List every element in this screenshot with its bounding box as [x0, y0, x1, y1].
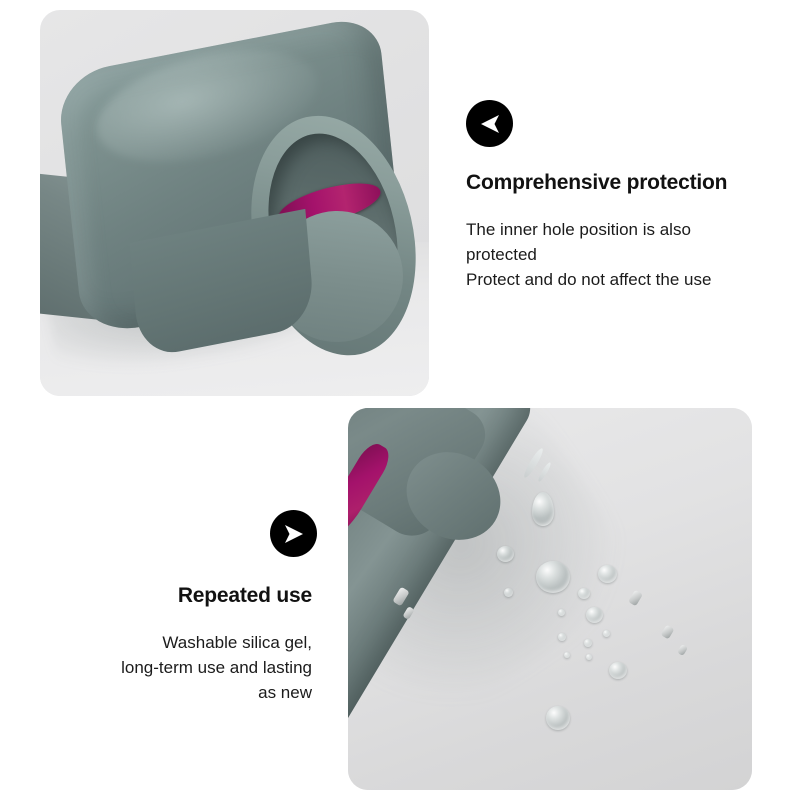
- nozzle-cover-photo: [40, 10, 429, 396]
- water-droplet: [504, 588, 513, 597]
- arrow-left-icon: [466, 100, 513, 147]
- feature-description-line: protected: [466, 242, 786, 267]
- wet-handle-photo: [348, 408, 752, 790]
- arrow-right-icon: [270, 510, 317, 557]
- feature-title: Comprehensive protection: [466, 170, 786, 195]
- feature-description-line: Protect and do not affect the use: [466, 267, 786, 292]
- feature-title: Repeated use: [40, 583, 312, 608]
- water-droplet: [546, 706, 570, 730]
- wet-handle-illustration: [348, 408, 752, 790]
- feature-description-line: The inner hole position is also: [466, 217, 786, 242]
- feature-description-line: as new: [40, 680, 312, 705]
- water-droplet: [558, 609, 565, 616]
- feature-description-line: Washable silica gel,: [40, 630, 312, 655]
- feature-text-comprehensive-protection: Comprehensive protection The inner hole …: [466, 170, 786, 292]
- water-droplet: [586, 607, 603, 623]
- nozzle-cover-illustration: [40, 10, 429, 396]
- water-droplet: [598, 565, 617, 583]
- feature-text-repeated-use: Repeated use Washable silica gel, long-t…: [40, 583, 312, 705]
- water-droplet: [532, 492, 554, 526]
- water-droplet: [609, 662, 627, 679]
- water-droplet: [578, 588, 590, 599]
- feature-description: Washable silica gel, long-term use and l…: [40, 630, 312, 705]
- feature-description-line: long-term use and lasting: [40, 655, 312, 680]
- feature-description: The inner hole position is also protecte…: [466, 217, 786, 292]
- product-feature-page: Comprehensive protection The inner hole …: [0, 0, 800, 800]
- water-droplet: [497, 546, 514, 562]
- water-droplet: [603, 630, 610, 637]
- water-droplet: [536, 561, 570, 593]
